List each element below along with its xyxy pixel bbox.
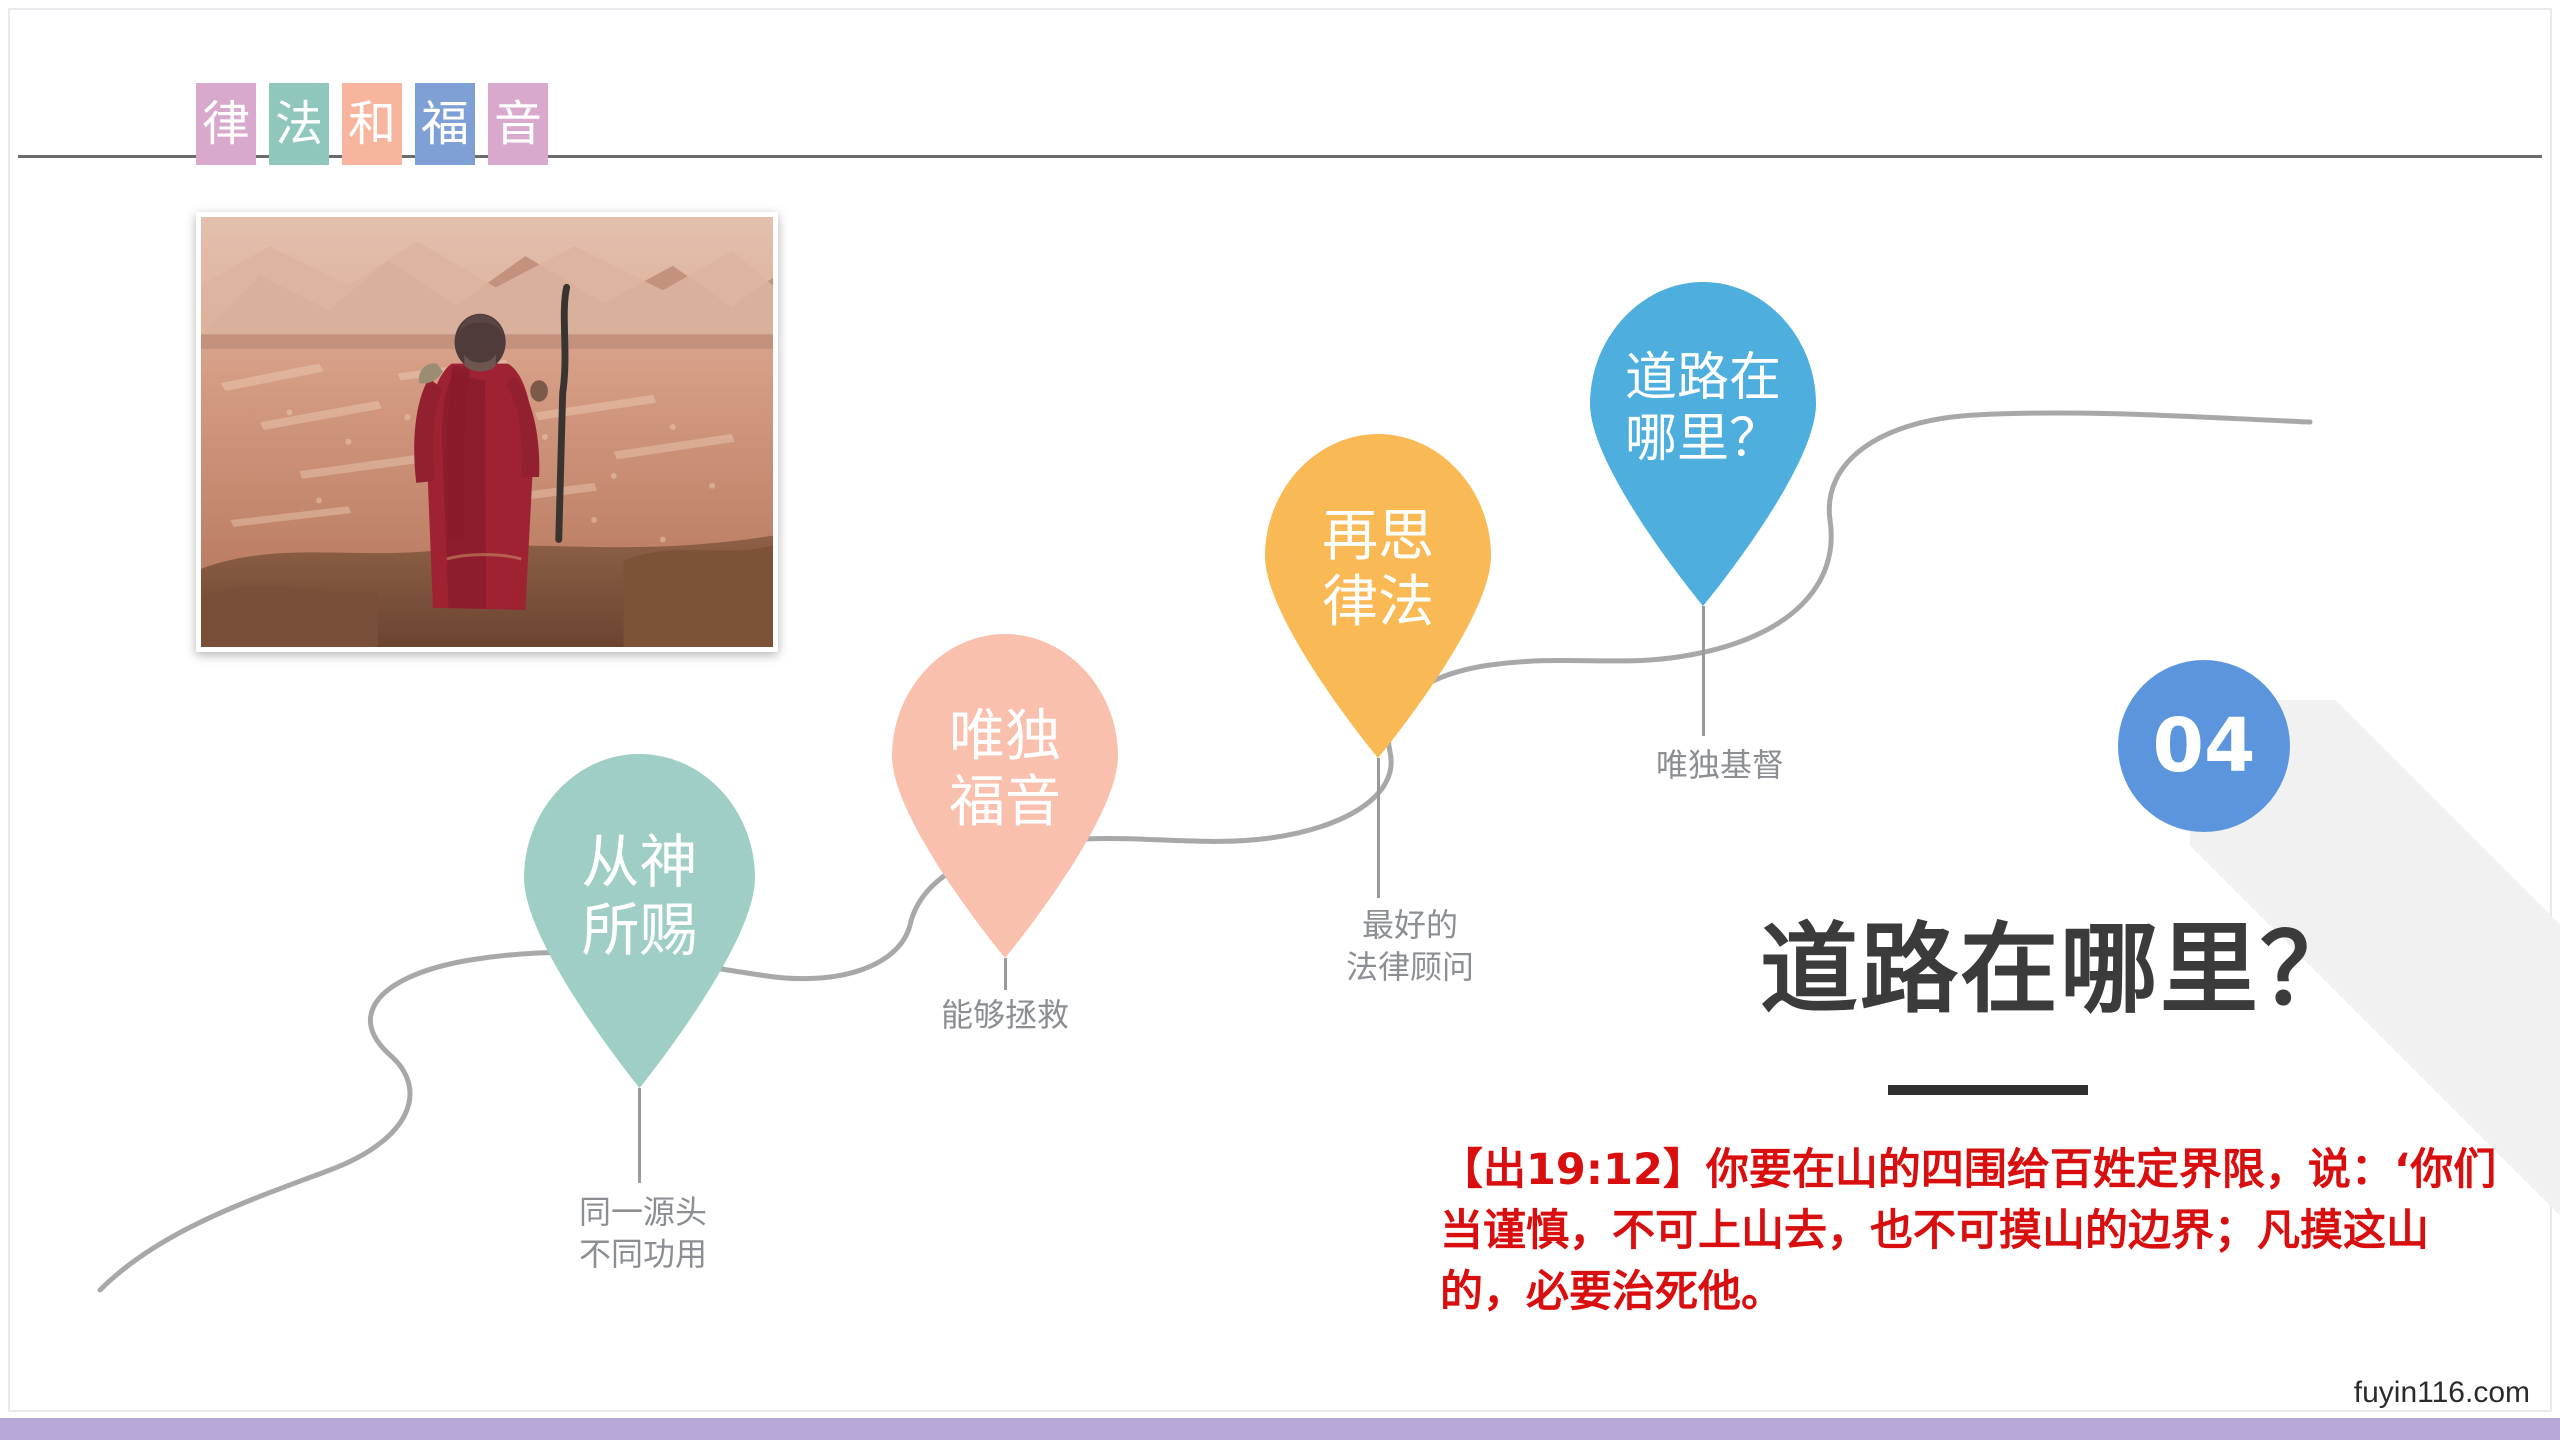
journey-pin-2-caption: 能够拯救 bbox=[890, 995, 1120, 1037]
journey-pin-2-stem bbox=[1004, 958, 1007, 990]
site-watermark: fuyin116.com bbox=[2354, 1376, 2530, 1410]
section-number: 04 bbox=[2153, 703, 2256, 789]
title-chip: 法 bbox=[269, 83, 329, 165]
journey-pin-4[interactable]: 道路在 哪里？ bbox=[1578, 278, 1828, 608]
journey-pin-1-caption: 同一源头 不同功用 bbox=[528, 1192, 758, 1275]
footer-bar bbox=[0, 1418, 2560, 1440]
journey-pin-1[interactable]: 从神 所赐 bbox=[512, 750, 767, 1090]
scripture-quote: 【出19:12】你要在山的四围给百姓定界限，说：‘你们当谨慎，不可上山去，也不可… bbox=[1440, 1140, 2510, 1323]
journey-pin-1-label: 从神 所赐 bbox=[512, 828, 767, 965]
headline-underline bbox=[1888, 1085, 2088, 1095]
title-chip: 音 bbox=[488, 83, 548, 165]
journey-pin-1-stem bbox=[638, 1088, 641, 1183]
journey-pin-2[interactable]: 唯独 福音 bbox=[880, 630, 1130, 960]
journey-pin-2-label: 唯独 福音 bbox=[880, 704, 1130, 836]
journey-pin-3[interactable]: 再思 律法 bbox=[1253, 430, 1503, 760]
journey-pin-4-caption: 唯独基督 bbox=[1605, 745, 1835, 787]
slide-canvas: 律 法 和 福 音 bbox=[0, 0, 2560, 1440]
journey-pin-3-label: 再思 律法 bbox=[1253, 504, 1503, 636]
journey-pin-3-caption: 最好的 法律顾问 bbox=[1295, 905, 1525, 988]
journey-pin-4-stem bbox=[1702, 606, 1705, 736]
title-chip: 和 bbox=[342, 83, 402, 165]
title-chip: 律 bbox=[196, 83, 256, 165]
illustration-image bbox=[196, 212, 778, 652]
slide-title: 律 法 和 福 音 bbox=[196, 83, 548, 165]
section-number-badge: 04 bbox=[2118, 660, 2290, 832]
page-title: 道路在哪里？ bbox=[1760, 890, 2360, 1032]
journey-pin-4-label: 道路在 哪里？ bbox=[1578, 348, 1828, 471]
journey-pin-3-stem bbox=[1377, 758, 1380, 898]
title-chip: 福 bbox=[415, 83, 475, 165]
